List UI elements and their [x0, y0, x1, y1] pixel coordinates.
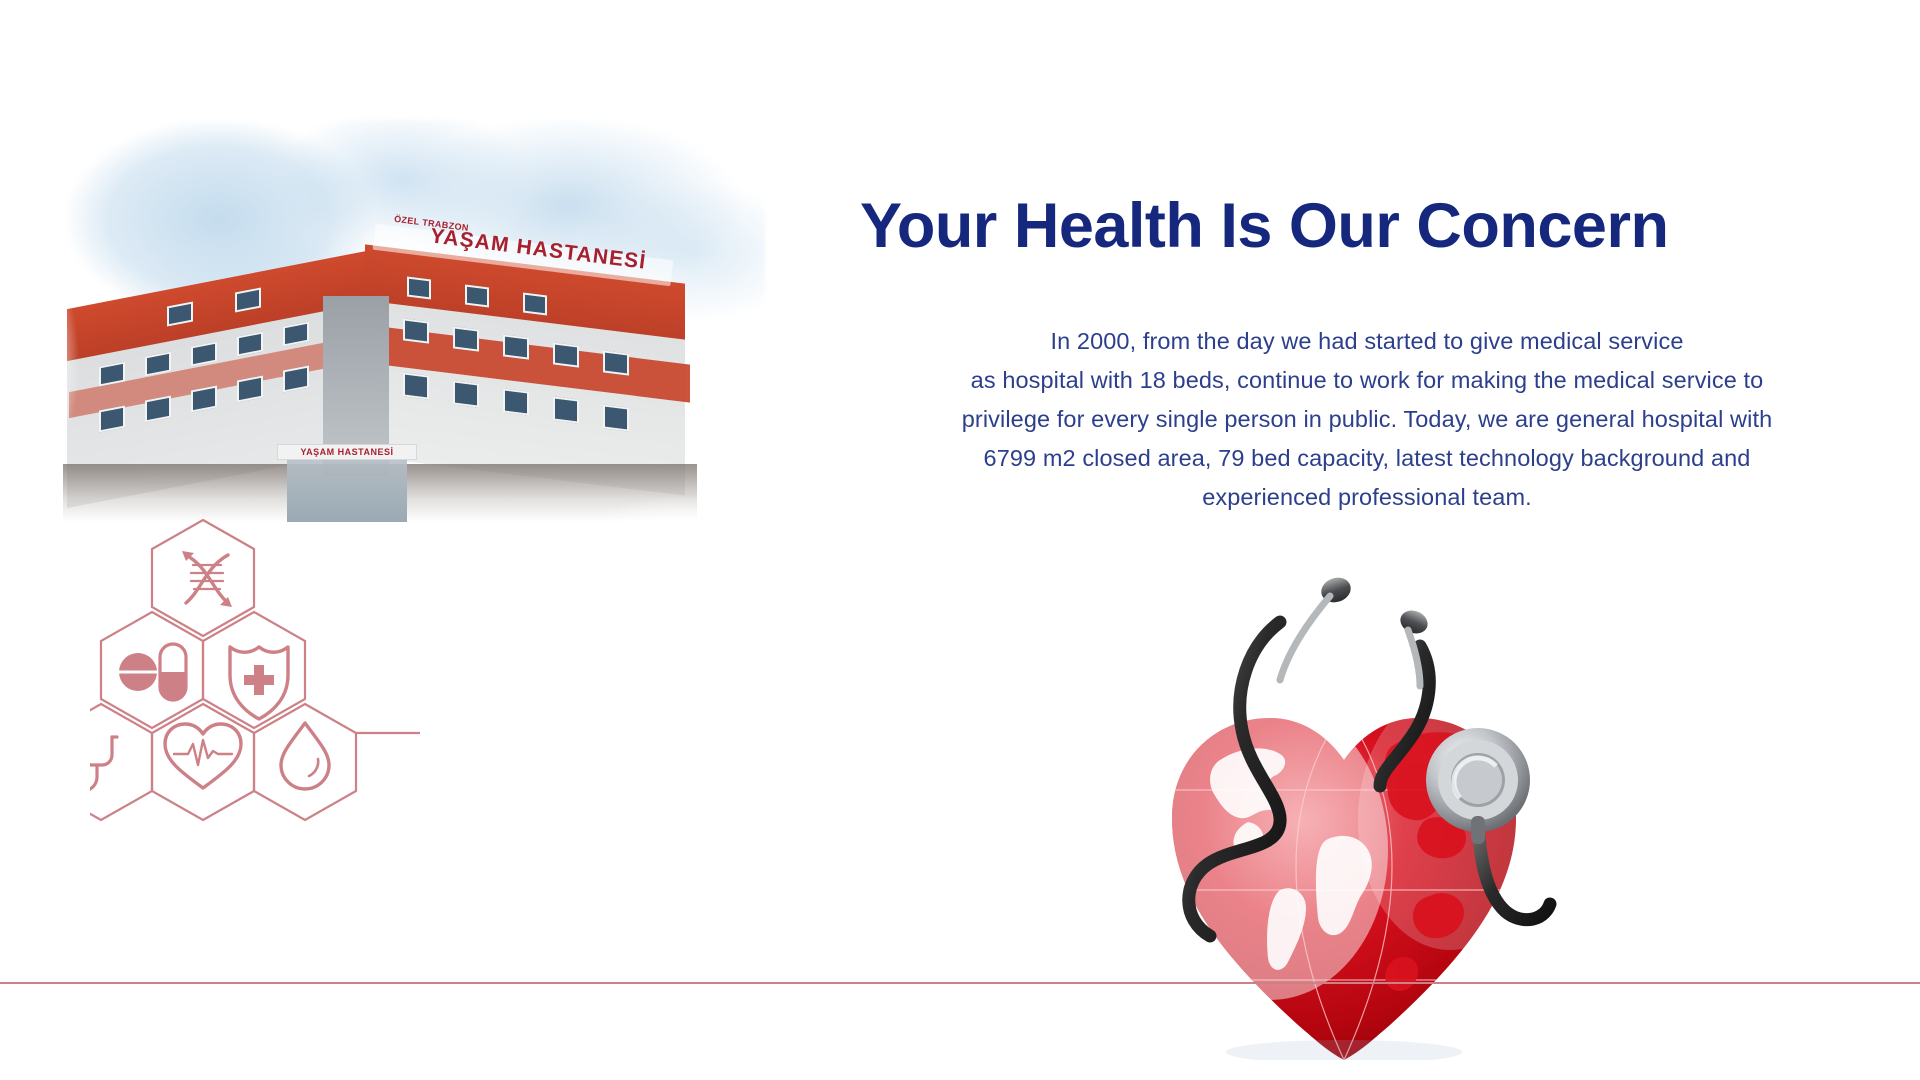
stethoscope-icon — [90, 737, 117, 791]
about-us-hero-section: YAŞAM HASTANESİ ÖZEL TRABZON YAŞAM HASTA… — [0, 0, 1920, 1080]
window — [603, 350, 629, 375]
window — [453, 326, 479, 351]
pill-capsule-icon — [119, 644, 186, 700]
window — [465, 285, 489, 308]
window — [553, 342, 579, 367]
heartbeat-heart-icon — [165, 724, 241, 788]
paragraph-line: privilege for every single person in pub… — [962, 406, 1773, 432]
heart-globe-stethoscope-illustration — [1130, 560, 1610, 1060]
window — [453, 380, 479, 407]
rooftop-sign-main-text: YAŞAM HASTANESİ — [429, 224, 648, 274]
window — [603, 404, 629, 431]
heart-ground-shadow — [1226, 1040, 1462, 1060]
hospital-building-photo: YAŞAM HASTANESİ ÖZEL TRABZON YAŞAM HASTA… — [55, 168, 715, 558]
page-title: Your Health Is Our Concern — [860, 195, 1874, 258]
paragraph-line: In 2000, from the day we had started to … — [1051, 328, 1684, 354]
window — [403, 318, 429, 343]
headline-paragraph-gap — [860, 258, 1874, 322]
hospital-photo-block: YAŞAM HASTANESİ ÖZEL TRABZON YAŞAM HASTA… — [55, 120, 845, 570]
dna-icon — [182, 551, 232, 607]
window — [523, 293, 547, 316]
hexagon-outline-heartbeat — [152, 704, 254, 820]
building-entrance — [287, 456, 407, 522]
window — [503, 334, 529, 359]
entrance-sign-text: YAŞAM HASTANESİ — [277, 444, 417, 460]
medical-hexagon-icon-cluster — [90, 515, 435, 915]
window — [407, 277, 431, 300]
shield-cross-icon — [230, 647, 288, 719]
hexagon-outline-stethoscope — [90, 704, 152, 820]
window — [503, 388, 529, 415]
blood-droplet-icon — [281, 723, 329, 789]
building-illustration: YAŞAM HASTANESİ ÖZEL TRABZON YAŞAM HASTA… — [55, 168, 715, 558]
section-divider-rule — [0, 982, 1920, 984]
window — [553, 396, 579, 423]
paragraph-line: experienced professional team. — [1202, 484, 1532, 510]
stethoscope-binaural-left — [1280, 596, 1330, 680]
window — [403, 372, 429, 399]
stethoscope-binaural-right — [1408, 630, 1420, 686]
hero-paragraph: In 2000, from the day we had started to … — [860, 322, 1874, 517]
stethoscope-ear-tips — [1318, 574, 1431, 637]
paragraph-line: as hospital with 18 beds, continue to wo… — [971, 367, 1764, 393]
paragraph-line: 6799 m2 closed area, 79 bed capacity, la… — [984, 445, 1751, 471]
hero-copy: Your Health Is Our Concern In 2000, from… — [860, 195, 1874, 517]
